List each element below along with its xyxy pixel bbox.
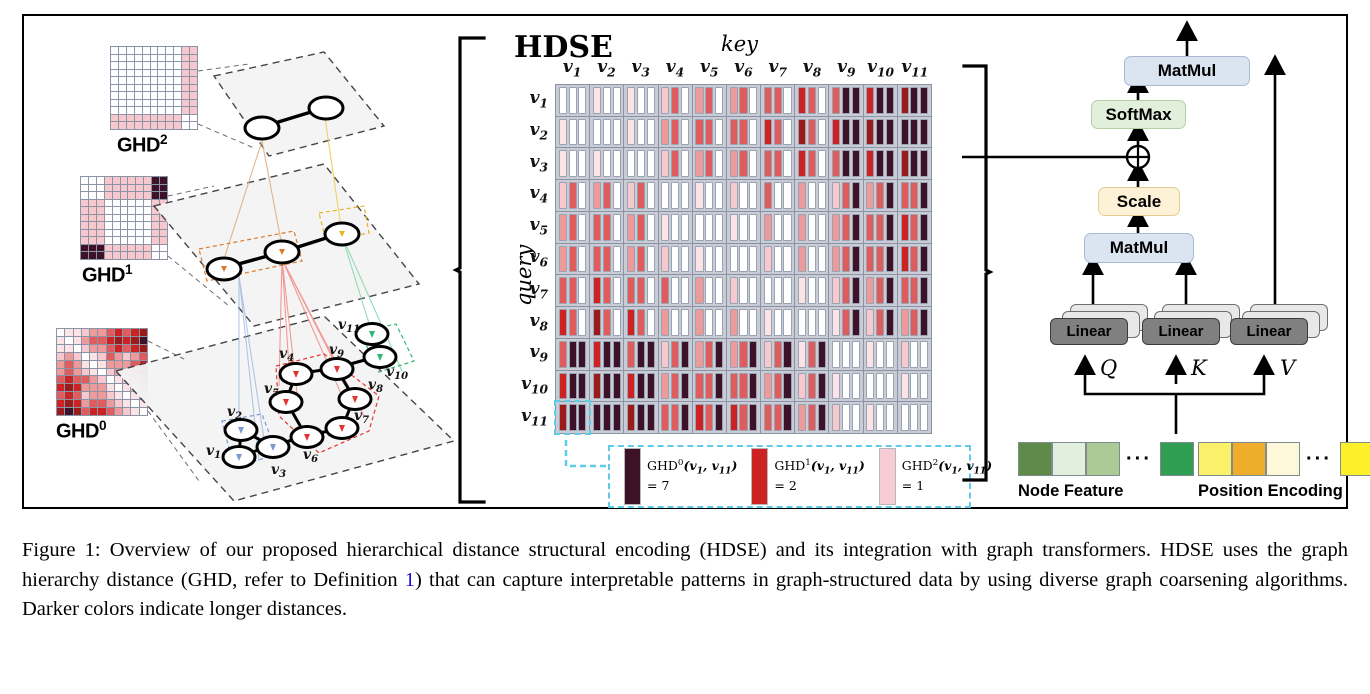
matrix-cell[interactable] <box>556 148 589 179</box>
matrix-cell[interactable] <box>693 307 726 338</box>
matrix-cell[interactable] <box>727 275 760 306</box>
matrix-cell[interactable] <box>727 244 760 275</box>
matrix-cell[interactable] <box>727 402 760 433</box>
matrix-cell[interactable] <box>761 212 794 243</box>
matrix-cell-bar-ghd2 <box>715 404 723 431</box>
matrix-cell-bar-ghd0 <box>661 214 669 241</box>
matrix-cell[interactable] <box>795 339 828 370</box>
matrix-cell-bar-ghd1 <box>671 182 679 209</box>
matrix-cell-bar-ghd0 <box>593 246 601 273</box>
matrix-cell-bar-ghd0 <box>730 309 738 336</box>
matrix-cell-bar-ghd0 <box>695 182 703 209</box>
matrix-cell[interactable] <box>795 402 828 433</box>
matrix-cell-bar-ghd0 <box>661 277 669 304</box>
matrix-cell[interactable] <box>693 244 726 275</box>
node-feature-label: Node Feature <box>1018 482 1123 501</box>
matrix-cell-bar-ghd2 <box>749 150 757 177</box>
matrix-cell-bar-ghd2 <box>681 404 689 431</box>
matrix-cell[interactable] <box>864 85 897 116</box>
matrix-cell[interactable] <box>556 212 589 243</box>
matrix-cell[interactable] <box>795 371 828 402</box>
matrix-cell-bar-ghd2 <box>613 182 621 209</box>
matrix-cell[interactable] <box>864 339 897 370</box>
matrix-cell-bar-ghd1 <box>637 214 645 241</box>
matrix-cell[interactable] <box>624 85 657 116</box>
matrix-cell-bar-ghd0 <box>866 119 874 146</box>
matrix-cell[interactable] <box>898 117 931 148</box>
matrix-cell-bar-ghd2 <box>886 404 894 431</box>
softmax-box[interactable]: SoftMax <box>1091 100 1186 129</box>
matrix-cell-bar-ghd0 <box>627 150 635 177</box>
matrix-cell-bar-ghd1 <box>603 309 611 336</box>
matrix-cell-bar-ghd0 <box>832 87 840 114</box>
matrix-cell[interactable] <box>898 307 931 338</box>
matrix-cell[interactable] <box>659 275 692 306</box>
position-encoding-swatch <box>1232 442 1266 476</box>
hdse-attention-matrix[interactable] <box>555 84 932 434</box>
matrix-cell[interactable] <box>898 180 931 211</box>
matrix-cell[interactable] <box>556 180 589 211</box>
matrix-cell[interactable] <box>556 117 589 148</box>
matrix-cell-bar-ghd2 <box>783 246 791 273</box>
matrix-cell-bar-ghd0 <box>901 373 909 400</box>
matrix-cell-bar-ghd0 <box>627 246 635 273</box>
matrix-cell-bar-ghd0 <box>661 341 669 368</box>
matrix-cell[interactable] <box>727 117 760 148</box>
matrix-cell-bar-ghd1 <box>774 214 782 241</box>
matrix-cell[interactable] <box>727 85 760 116</box>
matrix-cell[interactable] <box>659 180 692 211</box>
matrix-cell-bar-ghd2 <box>578 150 586 177</box>
matrix-cell-bar-ghd0 <box>695 309 703 336</box>
matrix-cell[interactable] <box>556 402 589 433</box>
caption-reference-link[interactable]: 1 <box>405 569 415 591</box>
matrix-cell[interactable] <box>556 339 589 370</box>
matrix-cell[interactable] <box>761 244 794 275</box>
matrix-cell-bar-ghd1 <box>739 341 747 368</box>
matrix-cell[interactable] <box>761 339 794 370</box>
matrix-cell-bar-ghd1 <box>842 277 850 304</box>
matrix-cell-bar-ghd1 <box>671 341 679 368</box>
matrix-cell-bar-ghd1 <box>637 373 645 400</box>
matrix-cell[interactable] <box>590 275 623 306</box>
matrix-cell-bar-ghd2 <box>920 373 928 400</box>
matrix-cell[interactable] <box>864 180 897 211</box>
matrix-cell[interactable] <box>761 402 794 433</box>
matrix-row-header-v7: v7 <box>503 279 548 301</box>
matrix-cell-bar-ghd0 <box>730 373 738 400</box>
matrix-cell-bar-ghd0 <box>559 150 567 177</box>
wire-input-fanout <box>1085 384 1264 394</box>
matrix-cell[interactable] <box>556 371 589 402</box>
matrix-cell[interactable] <box>693 85 726 116</box>
matrix-cell[interactable] <box>693 212 726 243</box>
matrix-cell[interactable] <box>590 212 623 243</box>
matrix-cell-bar-ghd2 <box>613 373 621 400</box>
matrix-cell[interactable] <box>761 148 794 179</box>
matrix-cell[interactable] <box>693 148 726 179</box>
matrix-cell-bar-ghd2 <box>613 119 621 146</box>
matrix-cell[interactable] <box>727 212 760 243</box>
linear-stack-v[interactable]: Linear <box>1228 304 1333 352</box>
matrix-cell[interactable] <box>624 148 657 179</box>
matrix-cell-bar-ghd2 <box>852 373 860 400</box>
matrix-cell[interactable] <box>659 117 692 148</box>
matrix-cell[interactable] <box>864 307 897 338</box>
matrix-cell[interactable] <box>659 148 692 179</box>
matmul-top-box[interactable]: MatMul <box>1124 56 1250 86</box>
matrix-cell[interactable] <box>829 148 862 179</box>
matrix-cell-bar-ghd1 <box>739 404 747 431</box>
matrix-cell[interactable] <box>624 275 657 306</box>
matrix-cell-bar-ghd2 <box>783 309 791 336</box>
matrix-cell-bar-ghd2 <box>852 119 860 146</box>
matrix-cell-bar-ghd0 <box>798 214 806 241</box>
matrix-cell[interactable] <box>624 244 657 275</box>
matrix-cell-bar-ghd2 <box>681 119 689 146</box>
matrix-cell[interactable] <box>624 180 657 211</box>
matrix-cell[interactable] <box>864 275 897 306</box>
matrix-cell-bar-ghd0 <box>764 246 772 273</box>
matrix-cell-bar-ghd2 <box>818 341 826 368</box>
matrix-cell-bar-ghd2 <box>852 341 860 368</box>
matrix-cell-bar-ghd2 <box>578 182 586 209</box>
matrix-cell[interactable] <box>727 339 760 370</box>
matrix-cell[interactable] <box>761 371 794 402</box>
matrix-cell-bar-ghd0 <box>866 373 874 400</box>
matrix-cell[interactable] <box>693 402 726 433</box>
matrix-cell-bar-ghd0 <box>866 214 874 241</box>
matrix-cell-bar-ghd1 <box>569 373 577 400</box>
caption-line-3: ) that can capture <box>415 569 563 591</box>
matrix-cell-bar-ghd0 <box>798 182 806 209</box>
matrix-cell-bar-ghd2 <box>920 277 928 304</box>
matrix-row-header-v6: v6 <box>503 247 548 269</box>
matrix-cell-bar-ghd0 <box>832 309 840 336</box>
matrix-cell[interactable] <box>795 117 828 148</box>
linear-box-k[interactable]: Linear <box>1142 318 1220 345</box>
matrix-cell[interactable] <box>556 307 589 338</box>
matrix-cell-bar-ghd1 <box>876 341 884 368</box>
matrix-cell-bar-ghd0 <box>695 373 703 400</box>
figure-frame: GHD2 GHD1 GHD0 <box>22 14 1348 509</box>
matrix-cell[interactable] <box>761 307 794 338</box>
node-feature-swatch <box>1086 442 1120 476</box>
matrix-cell-bar-ghd2 <box>578 277 586 304</box>
matrix-cell[interactable] <box>761 180 794 211</box>
matrix-cell-bar-ghd1 <box>705 277 713 304</box>
matrix-cell-bar-ghd1 <box>705 182 713 209</box>
matrix-cell[interactable] <box>624 307 657 338</box>
matrix-cell-bar-ghd0 <box>627 309 635 336</box>
matrix-cell[interactable] <box>864 148 897 179</box>
matrix-cell[interactable] <box>659 371 692 402</box>
matrix-cell[interactable] <box>829 117 862 148</box>
matrix-cell-bar-ghd1 <box>603 150 611 177</box>
matrix-cell-bar-ghd0 <box>730 214 738 241</box>
matrix-cell-bar-ghd0 <box>559 309 567 336</box>
matrix-cell[interactable] <box>795 148 828 179</box>
matrix-cell-bar-ghd0 <box>832 373 840 400</box>
matrix-cell-bar-ghd1 <box>739 119 747 146</box>
node-label-v11: v11 <box>338 317 360 335</box>
matrix-cell[interactable] <box>829 244 862 275</box>
matrix-cell-bar-ghd0 <box>764 277 772 304</box>
matrix-cell-bar-ghd1 <box>774 182 782 209</box>
matrix-cell[interactable] <box>829 371 862 402</box>
matrix-row-header-v5: v5 <box>503 215 548 237</box>
linear-box-q[interactable]: Linear <box>1050 318 1128 345</box>
matrix-cell[interactable] <box>898 402 931 433</box>
matrix-cell-bar-ghd2 <box>920 182 928 209</box>
matrix-cell[interactable] <box>898 339 931 370</box>
matrix-cell[interactable] <box>624 212 657 243</box>
matrix-cell[interactable] <box>898 371 931 402</box>
label-q: Q <box>1100 356 1117 380</box>
matmul-bottom-box[interactable]: MatMul <box>1084 233 1194 263</box>
ghd-legend-text: GHD1(v1, v11)= 2 <box>774 458 864 495</box>
matrix-cell[interactable] <box>659 339 692 370</box>
matrix-cell-bar-ghd1 <box>842 182 850 209</box>
matrix-cell[interactable] <box>864 117 897 148</box>
matrix-cell[interactable] <box>864 402 897 433</box>
matrix-cell[interactable] <box>624 117 657 148</box>
matrix-cell[interactable] <box>795 244 828 275</box>
matrix-cell-bar-ghd2 <box>715 277 723 304</box>
matrix-cell[interactable] <box>761 275 794 306</box>
matrix-cell[interactable] <box>624 371 657 402</box>
matrix-cell-bar-ghd1 <box>671 404 679 431</box>
matrix-cell-bar-ghd1 <box>910 309 918 336</box>
matrix-cell-bar-ghd0 <box>764 150 772 177</box>
matrix-cell[interactable] <box>761 117 794 148</box>
matrix-cell-bar-ghd0 <box>798 309 806 336</box>
node-feature-swatch-last <box>1160 442 1194 476</box>
matrix-cell[interactable] <box>590 244 623 275</box>
matrix-cell-bar-ghd1 <box>739 182 747 209</box>
ghd-legend-item-1: GHD1(v1, v11)= 2 <box>751 448 864 505</box>
matrix-cell-bar-ghd1 <box>637 87 645 114</box>
matrix-cell-bar-ghd1 <box>705 341 713 368</box>
matrix-cell[interactable] <box>795 180 828 211</box>
matrix-cell-bar-ghd2 <box>920 246 928 273</box>
matrix-cell[interactable] <box>727 180 760 211</box>
matrix-cell-bar-ghd0 <box>901 182 909 209</box>
matrix-cell-bar-ghd1 <box>876 119 884 146</box>
matrix-cell-bar-ghd2 <box>749 277 757 304</box>
label-k: K <box>1191 356 1207 380</box>
position-encoding-swatch <box>1198 442 1232 476</box>
matrix-cell-bar-ghd1 <box>876 87 884 114</box>
hierarchy-bracket <box>454 36 488 504</box>
matrix-cell[interactable] <box>590 85 623 116</box>
matrix-cell-bar-ghd2 <box>681 246 689 273</box>
matrix-row-header-v10: v10 <box>503 374 548 396</box>
matrix-cell-bar-ghd2 <box>818 150 826 177</box>
matrix-cell-bar-ghd2 <box>886 246 894 273</box>
matrix-cell-bar-ghd0 <box>695 404 703 431</box>
matrix-cell[interactable] <box>829 85 862 116</box>
matrix-cell[interactable] <box>693 117 726 148</box>
matrix-cell-bar-ghd0 <box>695 150 703 177</box>
matrix-cell[interactable] <box>590 180 623 211</box>
matrix-cell-bar-ghd2 <box>920 214 928 241</box>
matrix-cell-bar-ghd2 <box>852 404 860 431</box>
matrix-cell-bar-ghd2 <box>715 182 723 209</box>
matrix-cell-bar-ghd1 <box>569 214 577 241</box>
matrix-cell[interactable] <box>556 275 589 306</box>
matrix-cell-bar-ghd0 <box>627 119 635 146</box>
matrix-cell-bar-ghd0 <box>559 119 567 146</box>
matrix-cell-bar-ghd1 <box>603 214 611 241</box>
matrix-cell-bar-ghd2 <box>783 277 791 304</box>
matrix-cell[interactable] <box>898 148 931 179</box>
matrix-cell[interactable] <box>795 307 828 338</box>
plane-level-2 <box>214 52 384 156</box>
matrix-cell-bar-ghd1 <box>671 214 679 241</box>
scale-box[interactable]: Scale <box>1098 187 1180 216</box>
matrix-cell-bar-ghd0 <box>901 309 909 336</box>
matrix-cell-bar-ghd1 <box>705 246 713 273</box>
matrix-cell-bar-ghd2 <box>852 87 860 114</box>
matrix-cell[interactable] <box>829 275 862 306</box>
matrix-cell[interactable] <box>727 371 760 402</box>
matrix-cell-bar-ghd2 <box>681 341 689 368</box>
matrix-cell-bar-ghd2 <box>749 87 757 114</box>
matrix-cell[interactable] <box>693 339 726 370</box>
matrix-cell[interactable] <box>795 275 828 306</box>
matrix-cell[interactable] <box>659 85 692 116</box>
matrix-cell[interactable] <box>829 180 862 211</box>
matrix-cell[interactable] <box>556 85 589 116</box>
linear-box-v[interactable]: Linear <box>1230 318 1308 345</box>
matrix-cell-bar-ghd1 <box>910 246 918 273</box>
matrix-cell-bar-ghd1 <box>603 87 611 114</box>
matrix-cell-bar-ghd2 <box>613 277 621 304</box>
matrix-cell-bar-ghd0 <box>661 87 669 114</box>
matrix-cell-bar-ghd1 <box>569 87 577 114</box>
matrix-cell-bar-ghd2 <box>681 87 689 114</box>
matrix-cell[interactable] <box>864 371 897 402</box>
matrix-cell[interactable] <box>829 212 862 243</box>
matrix-cell[interactable] <box>624 339 657 370</box>
matrix-cell-bar-ghd1 <box>774 246 782 273</box>
matrix-cell[interactable] <box>898 212 931 243</box>
matrix-cell-bar-ghd2 <box>818 119 826 146</box>
matrix-cell-bar-ghd1 <box>808 404 816 431</box>
linear-stack-q[interactable]: Linear <box>1048 304 1153 352</box>
matrix-cell[interactable] <box>829 339 862 370</box>
matrix-cell[interactable] <box>864 244 897 275</box>
matrix-cell[interactable] <box>659 212 692 243</box>
matrix-cell-bar-ghd1 <box>569 246 577 273</box>
matrix-cell[interactable] <box>590 339 623 370</box>
matrix-cell-bar-ghd2 <box>852 182 860 209</box>
matrix-cell[interactable] <box>556 244 589 275</box>
matrix-cell-bar-ghd2 <box>578 373 586 400</box>
hierarchy-diagram: v1 v2 v3 v4 v5 v6 v7 v8 v9 v10 v11 <box>24 16 459 507</box>
matrix-cell[interactable] <box>693 275 726 306</box>
matrix-cell-bar-ghd1 <box>876 150 884 177</box>
matrix-cell-bar-ghd0 <box>798 150 806 177</box>
matrix-cell[interactable] <box>898 85 931 116</box>
matrix-cell[interactable] <box>659 307 692 338</box>
matrix-cell-bar-ghd1 <box>569 182 577 209</box>
matrix-cell[interactable] <box>693 180 726 211</box>
matrix-cell[interactable] <box>590 117 623 148</box>
matrix-cell-bar-ghd1 <box>876 277 884 304</box>
matrix-cell[interactable] <box>898 244 931 275</box>
matrix-cell-bar-ghd2 <box>578 309 586 336</box>
matrix-cell-bar-ghd0 <box>593 119 601 146</box>
ghd-legend-swatch <box>624 448 641 505</box>
matrix-cell[interactable] <box>659 244 692 275</box>
matrix-cell-bar-ghd2 <box>818 373 826 400</box>
matrix-cell[interactable] <box>727 307 760 338</box>
matrix-cell-bar-ghd0 <box>593 87 601 114</box>
matrix-cell[interactable] <box>590 371 623 402</box>
matrix-cell[interactable] <box>829 307 862 338</box>
matrix-cell[interactable] <box>795 212 828 243</box>
label-v: V <box>1280 356 1295 380</box>
matrix-cell-bar-ghd0 <box>730 182 738 209</box>
matrix-cell-bar-ghd1 <box>739 87 747 114</box>
matrix-cell-bar-ghd0 <box>730 341 738 368</box>
matrix-cell-bar-ghd0 <box>866 404 874 431</box>
matrix-cell[interactable] <box>795 85 828 116</box>
matrix-cell-bar-ghd2 <box>818 246 826 273</box>
matrix-cell-bar-ghd2 <box>920 309 928 336</box>
matrix-cell[interactable] <box>864 212 897 243</box>
matrix-cell-bar-ghd0 <box>627 182 635 209</box>
matrix-cell-bar-ghd0 <box>730 246 738 273</box>
matrix-cell-bar-ghd2 <box>647 87 655 114</box>
position-encoding-label: Position Encoding <box>1198 482 1343 501</box>
matrix-cell-bar-ghd1 <box>910 277 918 304</box>
ghd-legend-text: GHD0(v1, v11)= 7 <box>647 458 737 495</box>
matrix-cell[interactable] <box>829 402 862 433</box>
matrix-cell-bar-ghd0 <box>764 214 772 241</box>
matrix-cell-bar-ghd1 <box>705 404 713 431</box>
matrix-cell-bar-ghd1 <box>671 150 679 177</box>
matrix-cell[interactable] <box>590 148 623 179</box>
matrix-cell[interactable] <box>727 148 760 179</box>
matrix-cell-bar-ghd0 <box>730 119 738 146</box>
matrix-cell[interactable] <box>898 275 931 306</box>
matrix-cell[interactable] <box>761 85 794 116</box>
matrix-cell-bar-ghd0 <box>866 309 874 336</box>
matrix-cell-bar-ghd2 <box>715 214 723 241</box>
matrix-cell-bar-ghd0 <box>901 119 909 146</box>
matrix-cell-bar-ghd2 <box>715 373 723 400</box>
matrix-cell-bar-ghd2 <box>613 309 621 336</box>
matrix-cell-bar-ghd1 <box>876 309 884 336</box>
matrix-cell[interactable] <box>693 371 726 402</box>
matrix-cell-bar-ghd2 <box>578 404 586 431</box>
matrix-row-header-v9: v9 <box>503 342 548 364</box>
matrix-cell-bar-ghd2 <box>647 341 655 368</box>
matrix-cell-bar-ghd1 <box>808 119 816 146</box>
matrix-cell-bar-ghd0 <box>832 404 840 431</box>
matrix-cell-bar-ghd1 <box>910 214 918 241</box>
matrix-cell[interactable] <box>590 307 623 338</box>
matrix-cell-bar-ghd0 <box>901 87 909 114</box>
matrix-cell-bar-ghd1 <box>739 277 747 304</box>
matrix-cell-bar-ghd2 <box>613 150 621 177</box>
matrix-cell-bar-ghd0 <box>832 214 840 241</box>
matrix-cell-bar-ghd1 <box>569 404 577 431</box>
matrix-cell-bar-ghd0 <box>661 150 669 177</box>
